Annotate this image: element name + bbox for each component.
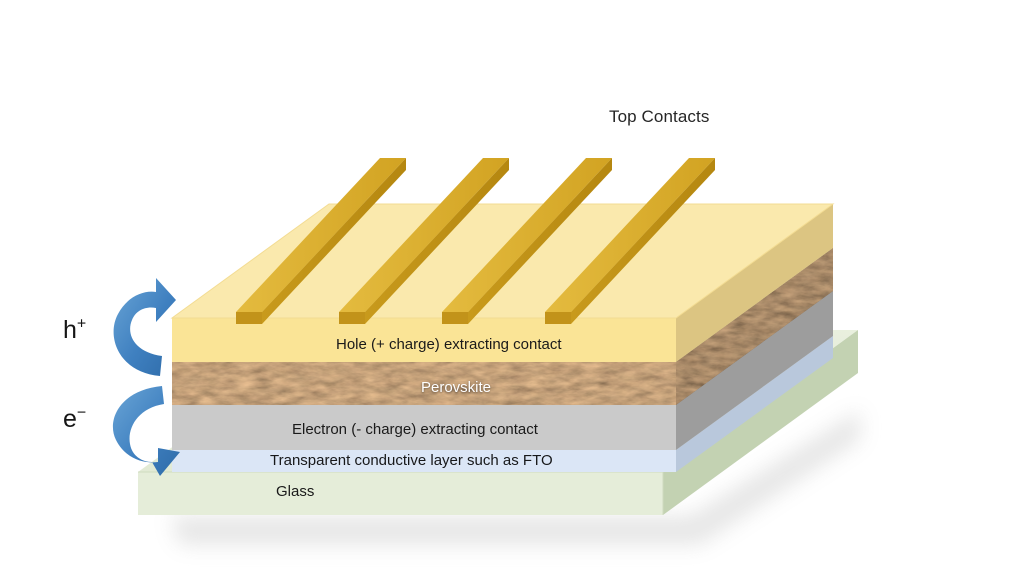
layer-label-glass: Glass [276, 483, 314, 500]
diagram-canvas: Top Contacts Hole (+ charge) extracting … [0, 0, 1024, 576]
top-contacts-label: Top Contacts [609, 107, 709, 127]
carrier-label-hole: h+ [63, 316, 86, 345]
layer-label-electron-contact: Electron (- charge) extracting contact [292, 421, 538, 438]
solar-cell-illustration [0, 0, 1024, 576]
layer-label-perovskite: Perovskite [421, 379, 491, 396]
hole-symbol: h [63, 316, 77, 344]
carrier-label-electron: e− [63, 405, 86, 434]
electron-charge-sign: − [77, 405, 86, 422]
electron-arrow-icon [113, 386, 180, 476]
carrier-arrows [113, 278, 180, 476]
glass-front-face [138, 472, 663, 515]
electron-symbol: e [63, 405, 77, 433]
hole-arrow-icon [114, 278, 176, 376]
hole-charge-sign: + [77, 316, 86, 333]
layer-label-fto: Transparent conductive layer such as FTO [270, 452, 553, 469]
layer-label-hole-contact: Hole (+ charge) extracting contact [336, 336, 562, 353]
